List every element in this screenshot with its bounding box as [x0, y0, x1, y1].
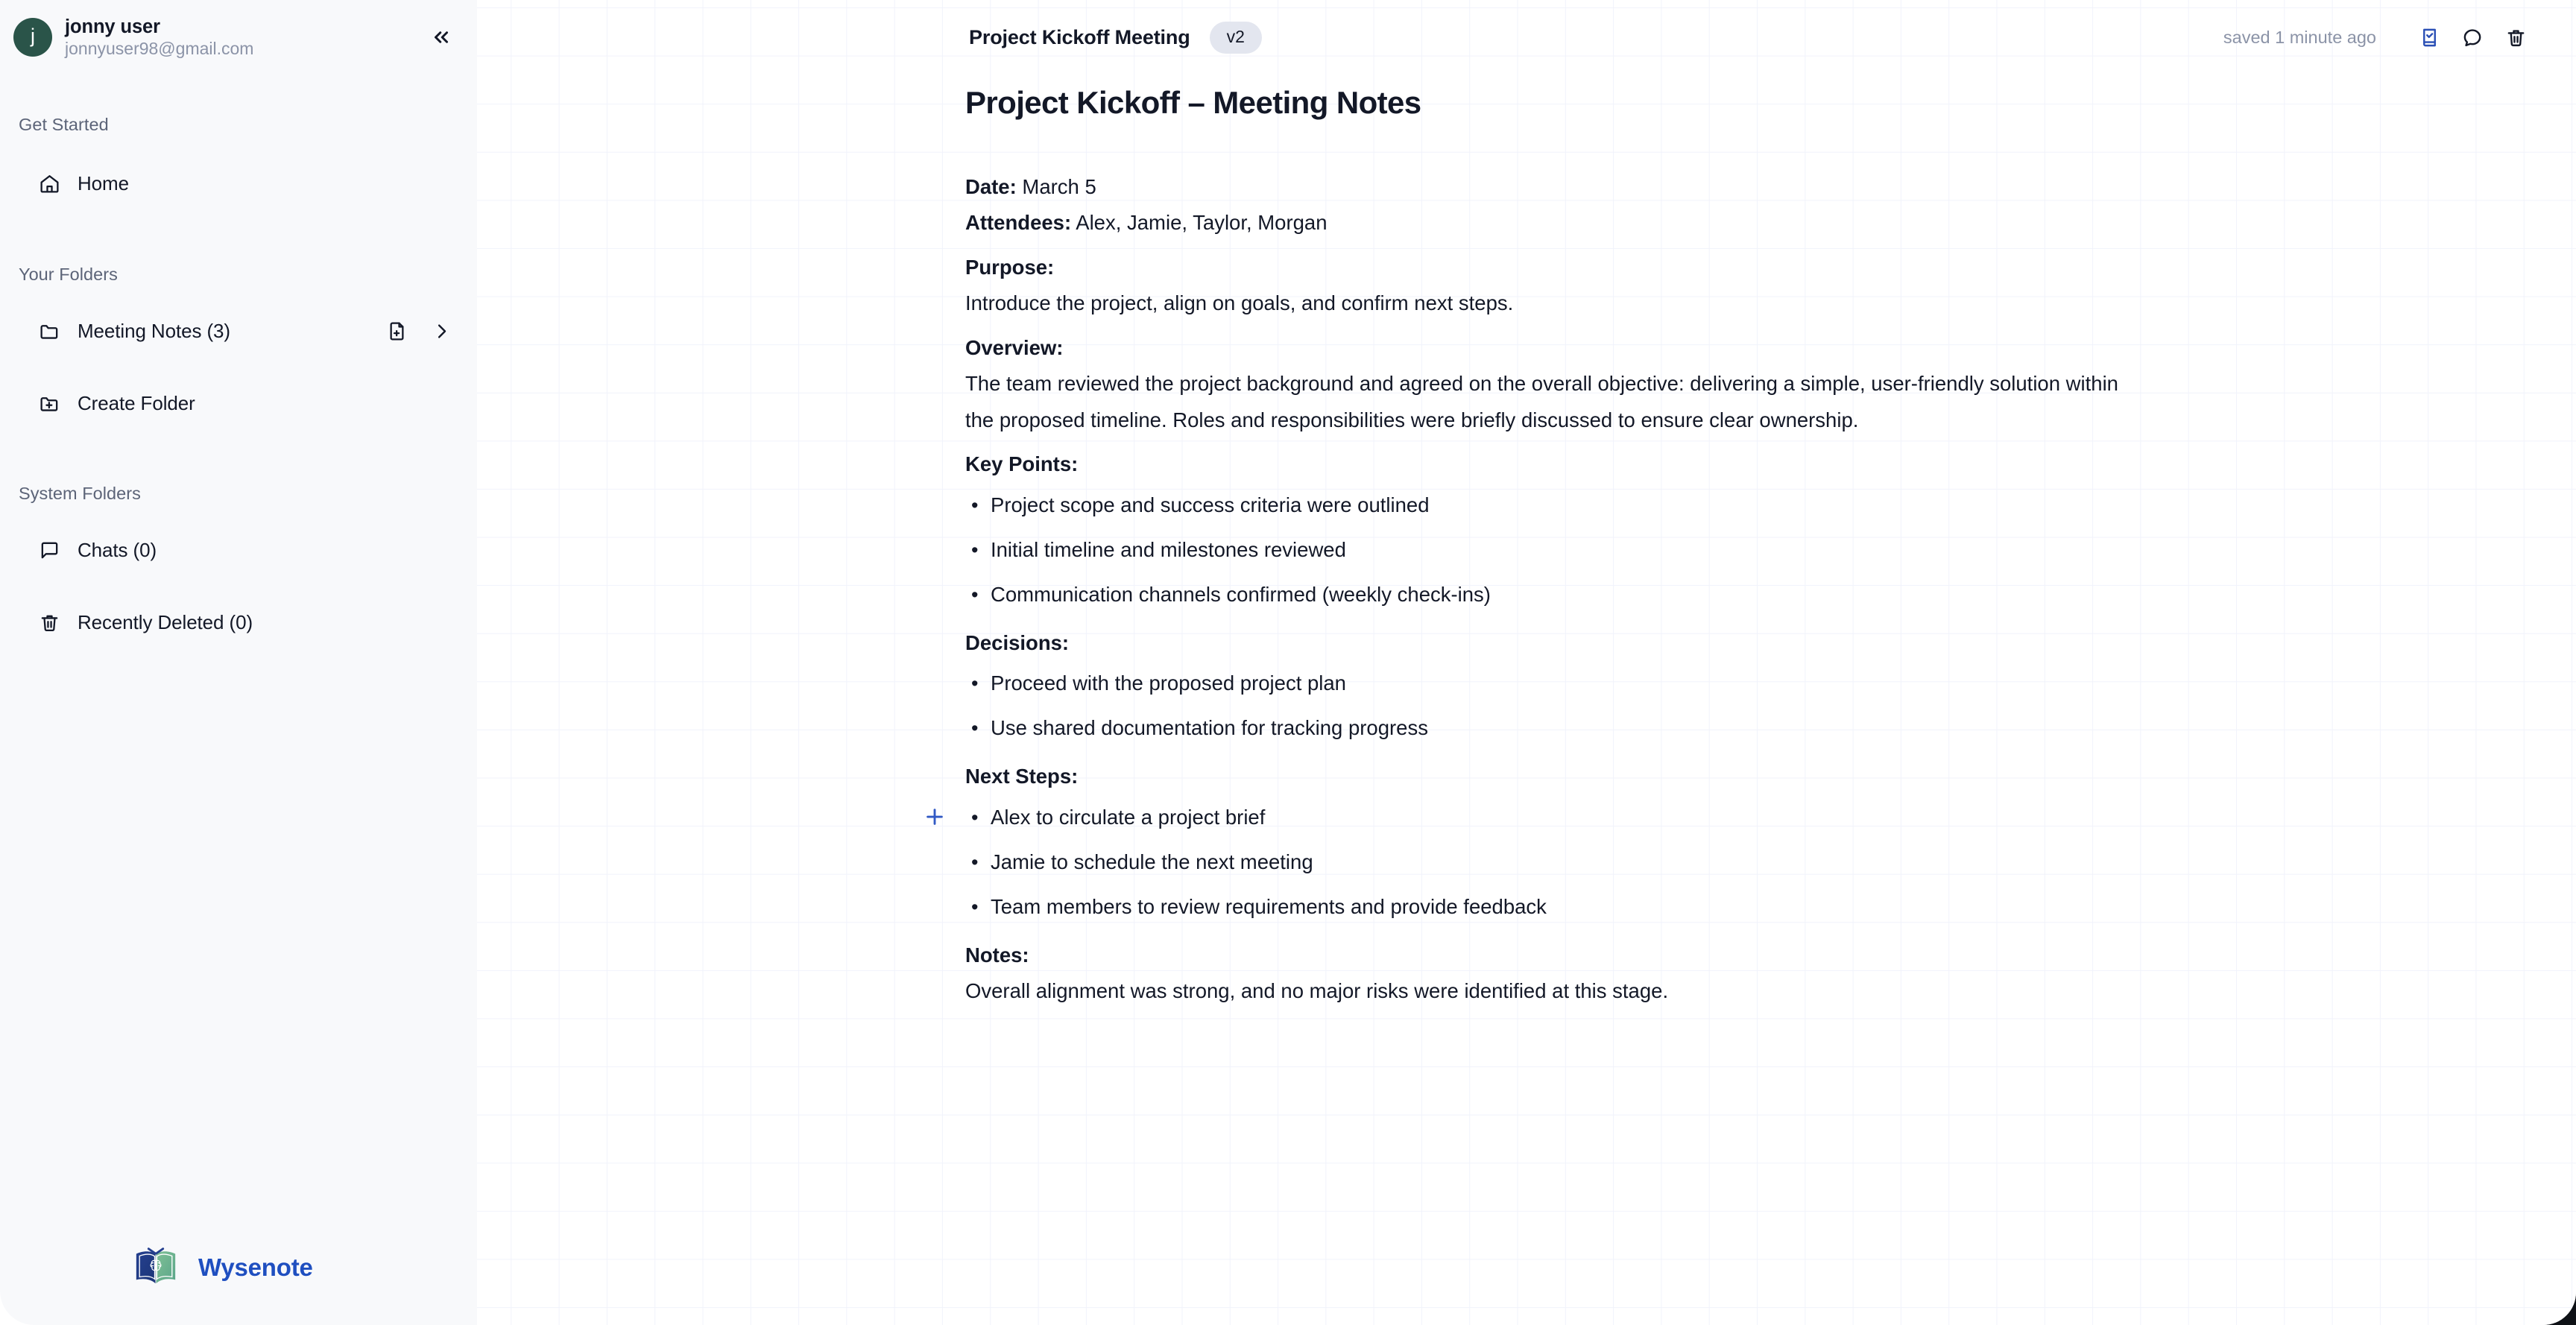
list-item[interactable]: Team members to review requirements and … — [965, 885, 2128, 929]
status-badge[interactable]: v2 — [1210, 22, 1262, 54]
sidebar-item-label: Home — [78, 172, 129, 195]
document-body[interactable]: Project Kickoff – Meeting Notes Date: Ma… — [965, 83, 2128, 1010]
overview-body: The team reviewed the project background… — [965, 366, 2128, 438]
sidebar-item-label: Meeting Notes (3) — [78, 320, 230, 343]
folder-plus-icon — [37, 391, 61, 415]
sidebar-item-recently-deleted[interactable]: Recently Deleted (0) — [9, 599, 468, 645]
avatar: j — [13, 18, 52, 57]
purpose-body: Introduce the project, align on goals, a… — [965, 285, 2128, 322]
app-window: j jonny user jonnyuser98@gmail.com Get S… — [0, 0, 2576, 1325]
attendees-line: Attendees: Alex, Jamie, Taylor, Morgan — [965, 205, 2128, 241]
list-item[interactable]: Communication channels confirmed (weekly… — [965, 572, 2128, 617]
header-actions: saved 1 minute ago — [2223, 16, 2537, 59]
plus-icon[interactable] — [919, 801, 950, 832]
account-email: jonnyuser98@gmail.com — [65, 39, 253, 57]
next-steps-heading: Next Steps: — [965, 759, 2128, 795]
main-content: Project Kickoff Meeting v2 saved 1 minut… — [477, 0, 2576, 1325]
open-book-brain-logo — [133, 1242, 179, 1292]
decisions-list: Proceed with the proposed project plan U… — [965, 661, 2128, 750]
list-item[interactable]: Use shared documentation for tracking pr… — [965, 706, 2128, 750]
attendees-label: Attendees: — [965, 211, 1071, 234]
decisions-heading: Decisions: — [965, 625, 2128, 662]
date-label: Date: — [965, 175, 1017, 198]
account-row[interactable]: j jonny user jonnyuser98@gmail.com — [0, 0, 477, 75]
list-item-text: Alex to circulate a project brief — [991, 806, 1265, 829]
brand-logo[interactable]: Wysenote — [133, 1242, 313, 1292]
key-points-list: Project scope and success criteria were … — [965, 483, 2128, 617]
next-steps-list: Alex to circulate a project brief Jamie … — [965, 795, 2128, 929]
trash-icon — [37, 610, 61, 634]
sidebar-item-meeting-notes[interactable]: Meeting Notes (3) — [9, 308, 468, 354]
notes-body: Overall alignment was strong, and no maj… — [965, 973, 2128, 1010]
section-label-get-started: Get Started — [19, 115, 109, 135]
trash-icon[interactable] — [2494, 16, 2537, 59]
list-item[interactable]: Proceed with the proposed project plan — [965, 661, 2128, 706]
book-check-icon[interactable] — [2408, 16, 2451, 59]
sidebar-item-home[interactable]: Home — [9, 160, 468, 206]
sidebar: j jonny user jonnyuser98@gmail.com Get S… — [0, 0, 477, 1325]
section-label-system-folders: System Folders — [19, 484, 141, 504]
brand-name: Wysenote — [198, 1253, 313, 1282]
sidebar-item-label: Create Folder — [78, 392, 195, 415]
home-icon — [37, 171, 61, 195]
overview-heading: Overview: — [965, 330, 2128, 367]
saved-status-text: saved 1 minute ago — [2223, 28, 2376, 48]
document-heading: Project Kickoff – Meeting Notes — [965, 83, 2128, 123]
purpose-heading: Purpose: — [965, 250, 2128, 286]
attendees-value: Alex, Jamie, Taylor, Morgan — [1076, 211, 1327, 234]
sidebar-item-create-folder[interactable]: Create Folder — [9, 380, 468, 426]
account-name: jonny user — [65, 17, 253, 37]
list-item[interactable]: Initial timeline and milestones reviewed — [965, 528, 2128, 572]
folder-icon — [37, 319, 61, 343]
message-square-icon — [37, 538, 61, 562]
date-line: Date: March 5 — [965, 169, 2128, 206]
page-title[interactable]: Project Kickoff Meeting — [969, 26, 1190, 49]
file-plus-icon[interactable] — [383, 317, 410, 344]
chevrons-left-icon[interactable] — [425, 21, 458, 54]
folder-actions — [383, 308, 455, 354]
sidebar-item-label: Recently Deleted (0) — [78, 611, 253, 634]
document-title-bar: Project Kickoff Meeting v2 — [969, 22, 1262, 54]
sidebar-item-chats[interactable]: Chats (0) — [9, 527, 468, 573]
sidebar-item-label: Chats (0) — [78, 539, 157, 562]
date-value: March 5 — [1022, 175, 1096, 198]
chevron-right-icon[interactable] — [428, 317, 455, 344]
list-item[interactable]: Project scope and success criteria were … — [965, 483, 2128, 528]
account-text: jonny user jonnyuser98@gmail.com — [65, 17, 253, 57]
section-label-your-folders: Your Folders — [19, 265, 118, 285]
document-header: Project Kickoff Meeting v2 saved 1 minut… — [477, 0, 2576, 75]
list-item[interactable]: Jamie to schedule the next meeting — [965, 840, 2128, 885]
list-item[interactable]: Alex to circulate a project brief — [965, 795, 2128, 840]
message-circle-icon[interactable] — [2451, 16, 2494, 59]
notes-heading: Notes: — [965, 937, 2128, 974]
key-points-heading: Key Points: — [965, 446, 2128, 483]
